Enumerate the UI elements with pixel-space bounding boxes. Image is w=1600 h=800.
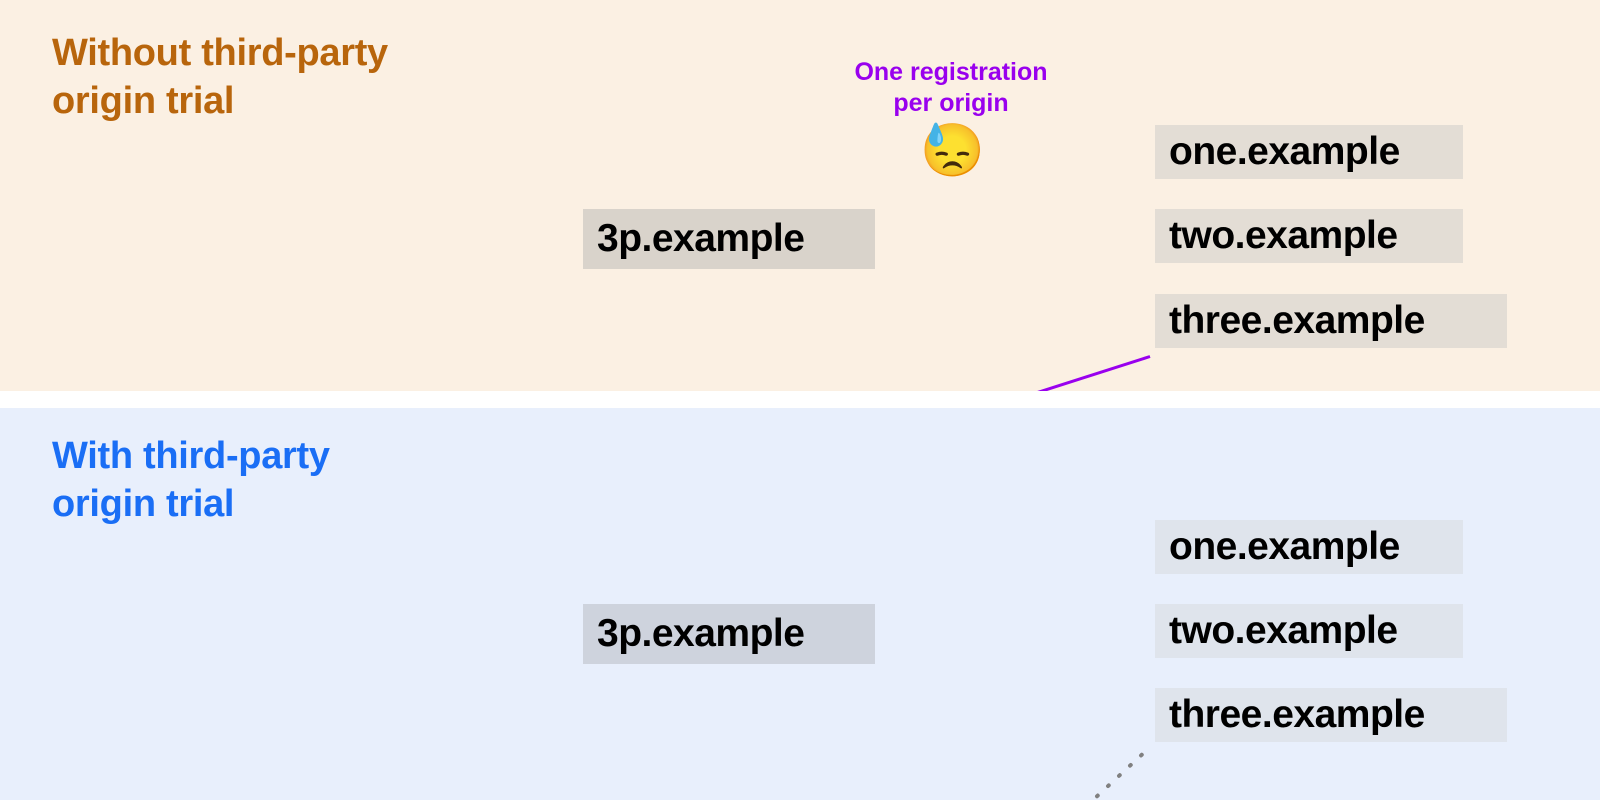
- node-label: one.example: [1169, 525, 1400, 569]
- connector-dotted-to-one: [1053, 749, 1148, 800]
- connector-to-one: [878, 357, 1150, 392]
- downcast-face-with-sweat-icon: 😓: [920, 125, 980, 177]
- node-source-3p-example[interactable]: 3p.example: [583, 604, 875, 664]
- node-one-example[interactable]: one.example: [1155, 125, 1463, 179]
- node-label: three.example: [1169, 693, 1425, 737]
- panel-without-title: Without third-party origin trial: [52, 30, 388, 125]
- node-three-example[interactable]: three.example: [1155, 688, 1507, 742]
- node-label: three.example: [1169, 299, 1425, 343]
- node-label: two.example: [1169, 214, 1398, 258]
- node-three-example[interactable]: three.example: [1155, 294, 1507, 348]
- annotation-one-registration-per-origin: One registration per origin: [795, 57, 1107, 118]
- node-label: two.example: [1169, 609, 1398, 653]
- panel-with-origin-trial: With third-party origin trial One regist…: [0, 408, 1600, 800]
- panel-without-origin-trial: Without third-party origin trial One reg…: [0, 0, 1600, 391]
- node-two-example[interactable]: two.example: [1155, 604, 1463, 658]
- diagram-stage: Without third-party origin trial One reg…: [0, 0, 1600, 800]
- panel-with-title: With third-party origin trial: [52, 433, 330, 528]
- node-two-example[interactable]: two.example: [1155, 209, 1463, 263]
- node-one-example[interactable]: one.example: [1155, 520, 1463, 574]
- node-source-3p-example[interactable]: 3p.example: [583, 209, 875, 269]
- node-label: one.example: [1169, 130, 1400, 174]
- node-source-label: 3p.example: [597, 612, 804, 656]
- node-source-label: 3p.example: [597, 217, 804, 261]
